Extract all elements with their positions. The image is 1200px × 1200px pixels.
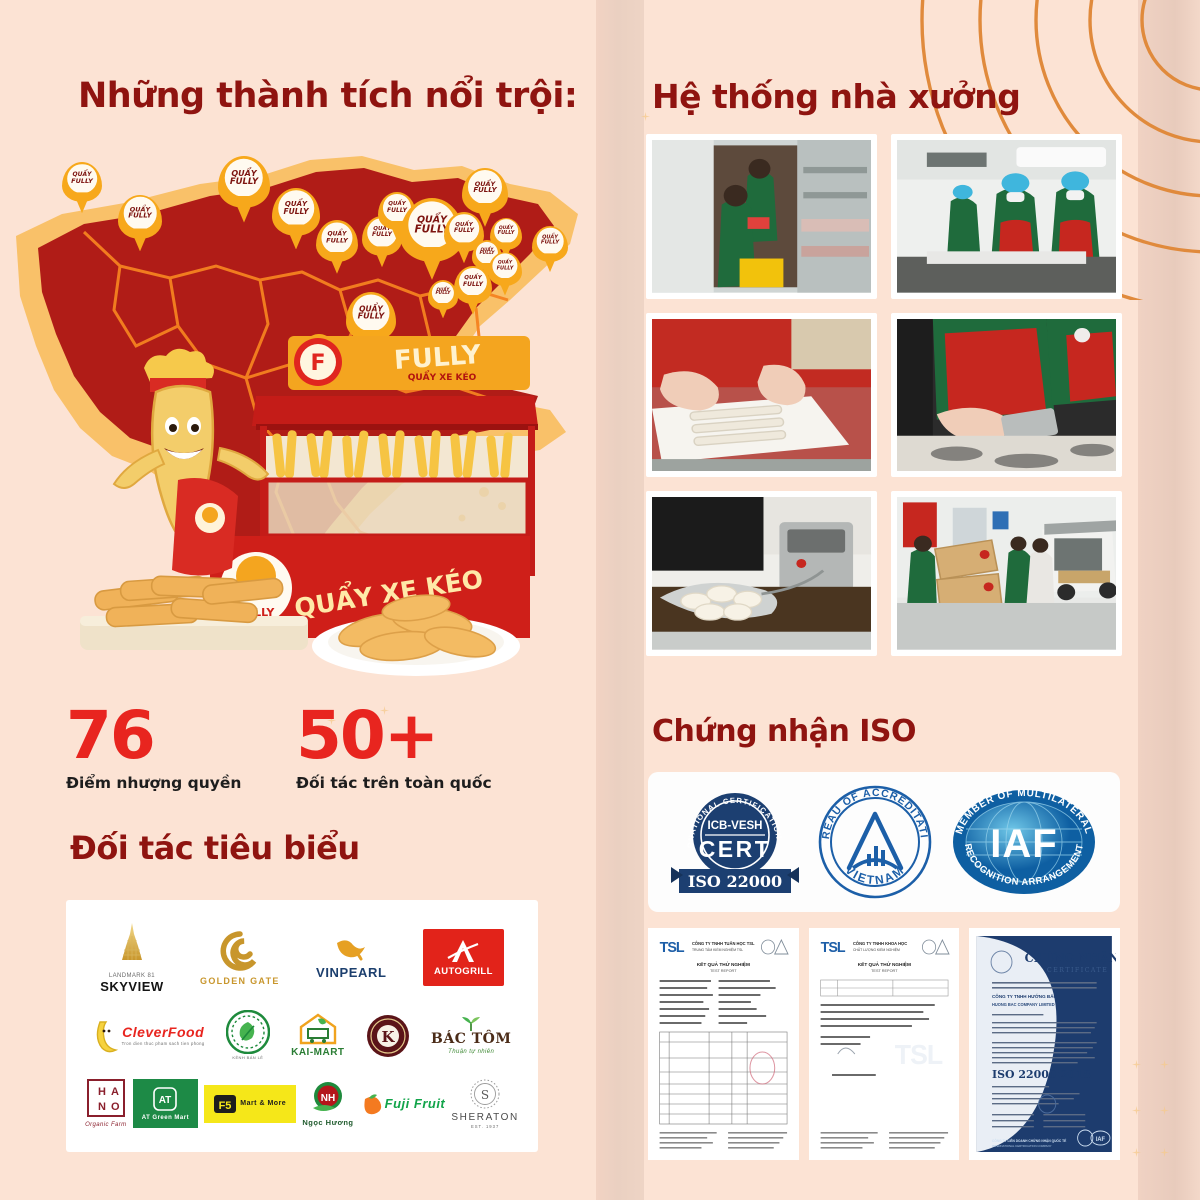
seal-icon: K [366, 1014, 410, 1058]
certificate-tsl-test-report-1[interactable]: TSL CÔNG TY TNHH TUẤN HỌC TSL TRUNG TÂM … [648, 928, 799, 1160]
partner-logo-skyview[interactable]: LANDMARK 81 SKYVIEW [100, 922, 163, 993]
infographic-page: Những thành tích nổi trội: [0, 0, 1200, 1200]
partner-logo-name: Mart & More [240, 1100, 286, 1108]
pin-label-line2: FULLY [326, 237, 348, 244]
pin-label-line2: FULLY [128, 213, 151, 220]
certificate-title: CHỨNG NHẬN [1025, 951, 1116, 965]
partner-logo-vinpearl[interactable]: VINPEARL [316, 937, 387, 980]
factory-system-heading: Hệ thống nhà xưởng [652, 80, 1020, 115]
pin-label-line2: FULLY [71, 179, 93, 186]
stat-franchise-points: 76 Điểm nhượng quyền [66, 705, 241, 792]
pin-label-line2: FULLY [372, 233, 392, 239]
certificate-company: CÔNG TY TNHH HƯỚNG BẮC [992, 992, 1057, 999]
mascot-and-food-cart-illustration: F FULLY QUẨY XE KÉO [60, 330, 560, 680]
partner-logo-cleverfood[interactable]: CleverFood Tron dien thuc pham sach tien… [93, 1019, 205, 1053]
bird-icon [333, 937, 369, 963]
f5-icon: F5 [214, 1094, 236, 1114]
nh-circle-icon: NH [309, 1080, 347, 1116]
factory-photo[interactable] [891, 491, 1122, 656]
partner-logo-name: KAI-MART [291, 1048, 344, 1059]
partner-logo-name: SKYVIEW [100, 980, 163, 994]
photo-deep-fryer-basket [652, 497, 871, 650]
certificate-company: CÔNG TY TNHH KHOA HỌC [853, 941, 907, 946]
partner-logo-hano[interactable]: H A N O Organic Farm [85, 1079, 126, 1128]
pin-label-line2: FULLY [454, 229, 474, 235]
iso-badge-outer-text-top: BUREAU OF ACCREDITATION [817, 784, 930, 840]
map-pin-location[interactable]: QUẨY FULLY [454, 266, 492, 304]
iso-badge-icb-vesh-cert[interactable]: INTERNATIONAL CERTIFICATION BODY ICB-VES… [671, 783, 799, 901]
partner-logo-bac-tom[interactable]: BÁC TÔM Thuận tự nhiên [431, 1016, 511, 1055]
photo-loading-delivery-van [897, 497, 1116, 650]
photo-cutting-dough-strips [897, 319, 1116, 472]
factory-photo[interactable] [646, 491, 877, 656]
stat-caption: Đối tác trên toàn quốc [296, 774, 492, 792]
pin-label-line2: FULLY [435, 292, 450, 297]
partner-logo-autogrill[interactable]: AUTOGRILL [423, 929, 504, 986]
sheraton-s-icon: S [469, 1078, 501, 1110]
certificate-standard: ISO 22000:2018 [992, 1067, 1091, 1081]
partner-logo-sublabel: Organic Farm [85, 1122, 126, 1128]
certificate-iso-22000-2018[interactable]: CHỨNG NHẬN CERTIFICATE CÔNG TY TNHH HƯỚN… [969, 928, 1120, 1160]
map-pin-location[interactable]: QUẨY FULLY [218, 156, 270, 208]
partner-logo-name: AT Green Mart [142, 1115, 189, 1121]
svg-text:O: O [111, 1101, 120, 1113]
pin-label-line2: FULLY [283, 208, 308, 216]
svg-text:NH: NH [321, 1093, 335, 1104]
svg-text:F5: F5 [219, 1100, 232, 1112]
photo-cold-storage-handover [652, 140, 871, 293]
partner-logo-dalat-mart[interactable]: KÊNH BÁN LẺ [226, 1010, 270, 1060]
house-cart-icon [298, 1013, 338, 1045]
partner-logo-ngoc-huong[interactable]: NH Ngọc Hương [302, 1080, 353, 1127]
pin-label-line2: FULLY [463, 282, 483, 288]
svg-text:H: H [98, 1086, 106, 1098]
banana-icon [93, 1019, 119, 1053]
sprout-icon [460, 1016, 482, 1032]
iso-badge-word: IAF [990, 822, 1057, 866]
pin-label-line2: FULLY [497, 266, 514, 271]
iso-badge-boa-vietnam[interactable]: BUREAU OF ACCREDITATION VIETNAM [817, 784, 933, 900]
certificate-footer: CÔNG TY LIÊN DOANH CHỨNG NHẬN QUỐC TẾ [992, 1138, 1067, 1143]
certificate-subtitle: TRUNG TÂM KIỂM NGHIỆM TSL [692, 947, 743, 952]
partner-logo-kaka-mart[interactable]: K [366, 1014, 410, 1058]
svg-text:N: N [98, 1101, 106, 1113]
certificate-logo: TSL [820, 940, 845, 956]
right-column: Hệ thống nhà xưởng [600, 0, 1200, 1200]
certificate-subtitle: CHẤT LƯỢNG KIỂM NGHIỆM [853, 947, 900, 952]
partner-logo-name: Ngọc Hương [302, 1119, 353, 1127]
pin-label-line2: FULLY [358, 313, 385, 321]
iso-badge-word: CERT [699, 836, 772, 862]
map-pin-location[interactable]: QUẨY FULLY [316, 220, 358, 262]
partner-logo-sublabel: KÊNH BÁN LẺ [232, 1056, 263, 1060]
photo-hand-forming-dough [652, 319, 871, 472]
partner-logo-row: H A N O Organic Farm AT AT Green Mart [82, 1078, 522, 1130]
stat-number: 50+ [296, 705, 492, 768]
svg-text:A: A [111, 1086, 119, 1098]
certificate-company-en: HUONG BAC COMPANY LIMITED [992, 1002, 1055, 1007]
partner-logo-name: CleverFood [122, 1025, 205, 1040]
cart-signboard: F FULLY QUẨY XE KÉO [288, 336, 530, 390]
photo-dough-shaping-line [897, 140, 1116, 293]
stat-number: 76 [66, 705, 241, 768]
partner-logos-card: LANDMARK 81 SKYVIEW GOLDEN GATE VINPEARL [66, 900, 538, 1152]
certificate-doc-subtitle: TEST REPORT [871, 968, 898, 973]
left-column: Những thành tích nổi trội: [0, 0, 600, 1200]
partner-logo-fuji-fruit[interactable]: Fuji Fruit [360, 1093, 446, 1115]
partner-logo-golden-gate[interactable]: GOLDEN GATE [200, 930, 280, 986]
svg-text:F: F [310, 351, 325, 376]
map-pin-location[interactable]: QUẨY FULLY [118, 195, 162, 239]
partner-logo-sublabel: Thuận tự nhiên [448, 1049, 494, 1055]
partner-logo-name: AUTOGRILL [434, 967, 493, 977]
certificates-row: TSL CÔNG TY TNHH TUẤN HỌC TSL TRUNG TÂM … [648, 928, 1120, 1160]
partner-logo-row: CleverFood Tron dien thuc pham sach tien… [82, 1010, 522, 1060]
partner-logo-name: BÁC TÔM [431, 1032, 511, 1047]
certificate-subtitle: CERTIFICATE [1047, 967, 1108, 974]
certificate-company: CÔNG TY TNHH TUẤN HỌC TSL [692, 941, 755, 946]
partner-logo-at-green-mart[interactable]: AT AT Green Mart [133, 1079, 198, 1128]
partner-logo-kai-mart[interactable]: KAI-MART [291, 1013, 344, 1059]
certificate-footer-en: INTERNATIONAL CERTIFICATION COMPANY [992, 1144, 1052, 1148]
pin-label-line2: FULLY [230, 178, 258, 187]
svg-text:FULLY: FULLY [393, 340, 483, 376]
certificate-logo: TSL [660, 940, 685, 956]
svg-text:BUREAU OF ACCREDITATION: BUREAU OF ACCREDITATION [817, 784, 930, 840]
swirl-icon [217, 930, 263, 974]
mango-icon [360, 1093, 382, 1115]
at-badge-icon: AT [152, 1086, 178, 1112]
pin-label-line2: FULLY [473, 187, 496, 194]
factory-photo[interactable] [646, 313, 877, 478]
svg-text:IAF: IAF [1096, 1137, 1106, 1143]
stat-caption: Điểm nhượng quyền [66, 774, 241, 792]
partner-logo-name: SHERATON [451, 1113, 518, 1124]
map-pin-location[interactable]: QUẨY FULLY [488, 252, 522, 286]
iso-badge-brand: ICB-VESH [708, 820, 763, 832]
svg-text:K: K [381, 1028, 395, 1046]
partner-logo-name: GOLDEN GATE [200, 977, 280, 986]
factory-photo[interactable] [891, 313, 1122, 478]
factory-photo[interactable] [646, 134, 877, 299]
svg-text:AT: AT [159, 1095, 172, 1106]
map-pin-location[interactable]: QUẨY FULLY [532, 226, 568, 262]
factory-photo[interactable] [891, 134, 1122, 299]
partner-logo-name: VINPEARL [316, 966, 387, 980]
achievements-heading: Những thành tích nổi trội: [78, 78, 577, 115]
partner-logo-name: Fuji Fruit [385, 1097, 446, 1111]
factory-photo-grid [646, 134, 1122, 656]
iso-badges-card: INTERNATIONAL CERTIFICATION BODY ICB-VES… [648, 772, 1120, 912]
partners-heading: Đối tác tiêu biểu [70, 832, 360, 866]
partner-logo-sublabel: Tron dien thuc pham sach tien phong [122, 1042, 205, 1046]
pin-label-line2: FULLY [498, 231, 515, 236]
autogrill-a-icon [445, 938, 481, 964]
partner-logo-f5-mart-more[interactable]: F5 Mart & More [204, 1085, 296, 1123]
circle-leaf-icon [226, 1010, 270, 1054]
certificate-doc-subtitle: TEST REPORT [710, 968, 737, 973]
tower-icon [108, 922, 156, 968]
iso-badge-iaf[interactable]: MEMBER OF MULTILATERAL RECOGNITION ARRAN… [951, 789, 1097, 895]
pin-label-line2: FULLY [541, 241, 559, 247]
svg-text:S: S [481, 1088, 489, 1102]
partner-logo-row: LANDMARK 81 SKYVIEW GOLDEN GATE VINPEARL [82, 922, 522, 993]
certificate-tsl-test-report-2[interactable]: TSL CÔNG TY TNHH KHOA HỌC CHẤT LƯỢNG KIỂ… [809, 928, 960, 1160]
svg-text:TSL: TSL [894, 1038, 942, 1070]
stat-partners-nationwide: 50+ Đối tác trên toàn quốc [296, 705, 492, 792]
iso-certification-heading: Chứng nhận ISO [652, 716, 916, 748]
map-pin-location[interactable]: QUẨY FULLY [272, 188, 320, 236]
iso-badge-ribbon: ISO 22000 [688, 872, 782, 891]
partner-logo-sublabel: EST. 1937 [471, 1125, 499, 1129]
hano-square-icon: H A N O [87, 1079, 125, 1117]
map-pin-location[interactable]: QUẨY FULLY [62, 162, 102, 202]
map-pin-location[interactable]: QUẨY FULLY [462, 168, 508, 214]
partner-logo-sheraton[interactable]: S SHERATON EST. 1937 [451, 1078, 518, 1130]
map-pin-location[interactable]: QUẨY FULLY [428, 280, 458, 310]
